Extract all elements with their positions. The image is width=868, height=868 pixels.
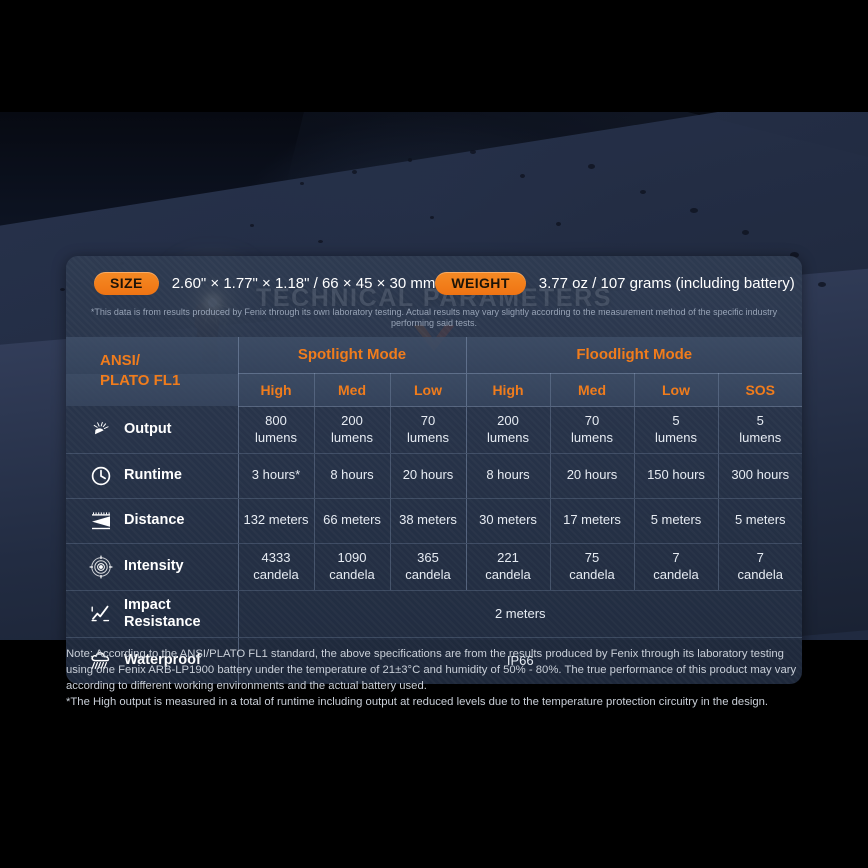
cell-runtime-spot-med: 8 hours [314,453,390,498]
cell-unit: candela [315,567,390,583]
cell-number: 800 [239,413,314,429]
cell-runtime-flood-low: 150 hours [634,453,718,498]
cell-number: 5 [635,413,718,429]
cell-unit: lumens [719,430,803,446]
cell-unit: lumens [635,430,718,446]
cell-number: 1090 [315,550,390,566]
weight-value: 3.77 oz / 107 grams (including battery) [539,275,795,292]
cell-distance-spot-low: 38 meters [390,498,466,543]
cell-distance-flood-high: 30 meters [466,498,550,543]
cell-distance-spot-high: 132 meters [238,498,314,543]
row-label-runtime: Runtime [66,453,238,498]
table-row: Output 800 lumens 200 lumens 70 lumens [66,406,802,453]
technical-parameters-table: ANSI/ PLATO FL1 Spotlight Mode Floodligh… [66,337,802,684]
header-mode-spot-high: High [238,373,314,406]
cell-intensity-spot-low: 365 candela [390,543,466,590]
cell-unit: lumens [239,430,314,446]
spec-panel: SIZE 2.60" × 1.77" × 1.18" / 66 × 45 × 3… [66,256,802,684]
cell-distance-flood-sos: 5 meters [718,498,802,543]
cell-unit: candela [391,567,466,583]
header-mode-flood-sos: SOS [718,373,802,406]
size-value: 2.60" × 1.77" × 1.18" / 66 × 45 × 30 mm [172,275,436,292]
header-mode-flood-med: Med [550,373,634,406]
cell-output-flood-med: 70 lumens [550,406,634,453]
table-row: Runtime 3 hours* 8 hours 20 hours 8 hour… [66,453,802,498]
cell-unit: candela [719,567,803,583]
cell-number: 70 [391,413,466,429]
table-row: Intensity 4333 candela 1090 candela 365 … [66,543,802,590]
impact-label-line1: Impact [124,597,171,613]
cell-runtime-spot-low: 20 hours [390,453,466,498]
clock-icon [88,463,114,489]
row-label-text: Intensity [124,558,184,575]
header-mode-spot-low: Low [390,373,466,406]
cell-runtime-spot-high: 3 hours* [238,453,314,498]
beam-distance-icon [88,508,114,534]
header-mode-flood-low: Low [634,373,718,406]
row-label-text: Distance [124,512,184,529]
cell-unit: lumens [467,430,550,446]
impact-resistance-icon [88,601,114,627]
cell-output-spot-high: 800 lumens [238,406,314,453]
cell-runtime-flood-sos: 300 hours [718,453,802,498]
cell-number: 7 [635,550,718,566]
cell-output-spot-low: 70 lumens [390,406,466,453]
cell-distance-flood-med: 17 meters [550,498,634,543]
cell-unit: candela [467,567,550,583]
size-badge: SIZE [94,272,159,295]
cell-number: 75 [551,550,634,566]
page-root: TECHNICAL PARAMETERS SIZE 2.60" × 1.77" … [0,0,868,868]
sunburst-icon [88,416,114,442]
cell-output-flood-sos: 5 lumens [718,406,802,453]
disclaimer-text: *This data is from results produced by F… [66,298,802,337]
header-mode-spot-med: Med [314,373,390,406]
cell-number: 200 [315,413,390,429]
cell-number: 365 [391,550,466,566]
cell-number: 200 [467,413,550,429]
cell-intensity-spot-high: 4333 candela [238,543,314,590]
footer-note-line-1: Note: According to the ANSI/PLATO FL1 st… [66,646,814,694]
footer-note: Note: According to the ANSI/PLATO FL1 st… [66,646,814,710]
cell-distance-spot-med: 66 meters [314,498,390,543]
cell-output-flood-low: 5 lumens [634,406,718,453]
row-label-text: Runtime [124,467,182,484]
cell-intensity-flood-low: 7 candela [634,543,718,590]
cell-intensity-flood-sos: 7 candela [718,543,802,590]
row-label-distance: Distance [66,498,238,543]
cell-unit: lumens [551,430,634,446]
cell-number: 70 [551,413,634,429]
cell-intensity-flood-high: 221 candela [466,543,550,590]
table-row: Impact Resistance 2 meters [66,590,802,637]
table-header-groups: ANSI/ PLATO FL1 Spotlight Mode Floodligh… [66,337,802,374]
cell-output-spot-med: 200 lumens [314,406,390,453]
cell-number: 221 [467,550,550,566]
header-group-floodlight: Floodlight Mode [466,337,802,374]
footer-note-line-2: *The High output is measured in a total … [66,694,814,710]
weight-badge: WEIGHT [435,272,525,295]
cell-unit: candela [551,567,634,583]
cell-number: 7 [719,550,803,566]
header-group-spotlight: Spotlight Mode [238,337,466,374]
cell-intensity-flood-med: 75 candela [550,543,634,590]
cell-number: 5 [719,413,803,429]
row-label-output: Output [66,406,238,453]
row-label-text: Impact Resistance [124,597,201,630]
cell-number: 4333 [239,550,314,566]
size-weight-row: SIZE 2.60" × 1.77" × 1.18" / 66 × 45 × 3… [66,256,802,298]
cell-impact-resistance-value: 2 meters [238,590,802,637]
cell-distance-flood-low: 5 meters [634,498,718,543]
row-label-intensity: Intensity [66,543,238,590]
cell-output-flood-high: 200 lumens [466,406,550,453]
cell-unit: candela [239,567,314,583]
header-corner-ansi-plato: ANSI/ PLATO FL1 [66,337,238,407]
table-row: Distance 132 meters 66 meters 38 meters … [66,498,802,543]
row-label-impact-resistance: Impact Resistance [66,590,238,637]
header-mode-flood-high: High [466,373,550,406]
row-label-text: Output [124,421,172,438]
cell-runtime-flood-med: 20 hours [550,453,634,498]
impact-label-line2: Resistance [124,614,201,630]
cell-intensity-spot-med: 1090 candela [314,543,390,590]
cell-unit: lumens [391,430,466,446]
target-intensity-icon [88,554,114,580]
cell-unit: lumens [315,430,390,446]
corner-line-1: ANSI/ [100,351,238,371]
cell-runtime-flood-high: 8 hours [466,453,550,498]
corner-line-2: PLATO FL1 [100,371,238,391]
cell-unit: candela [635,567,718,583]
